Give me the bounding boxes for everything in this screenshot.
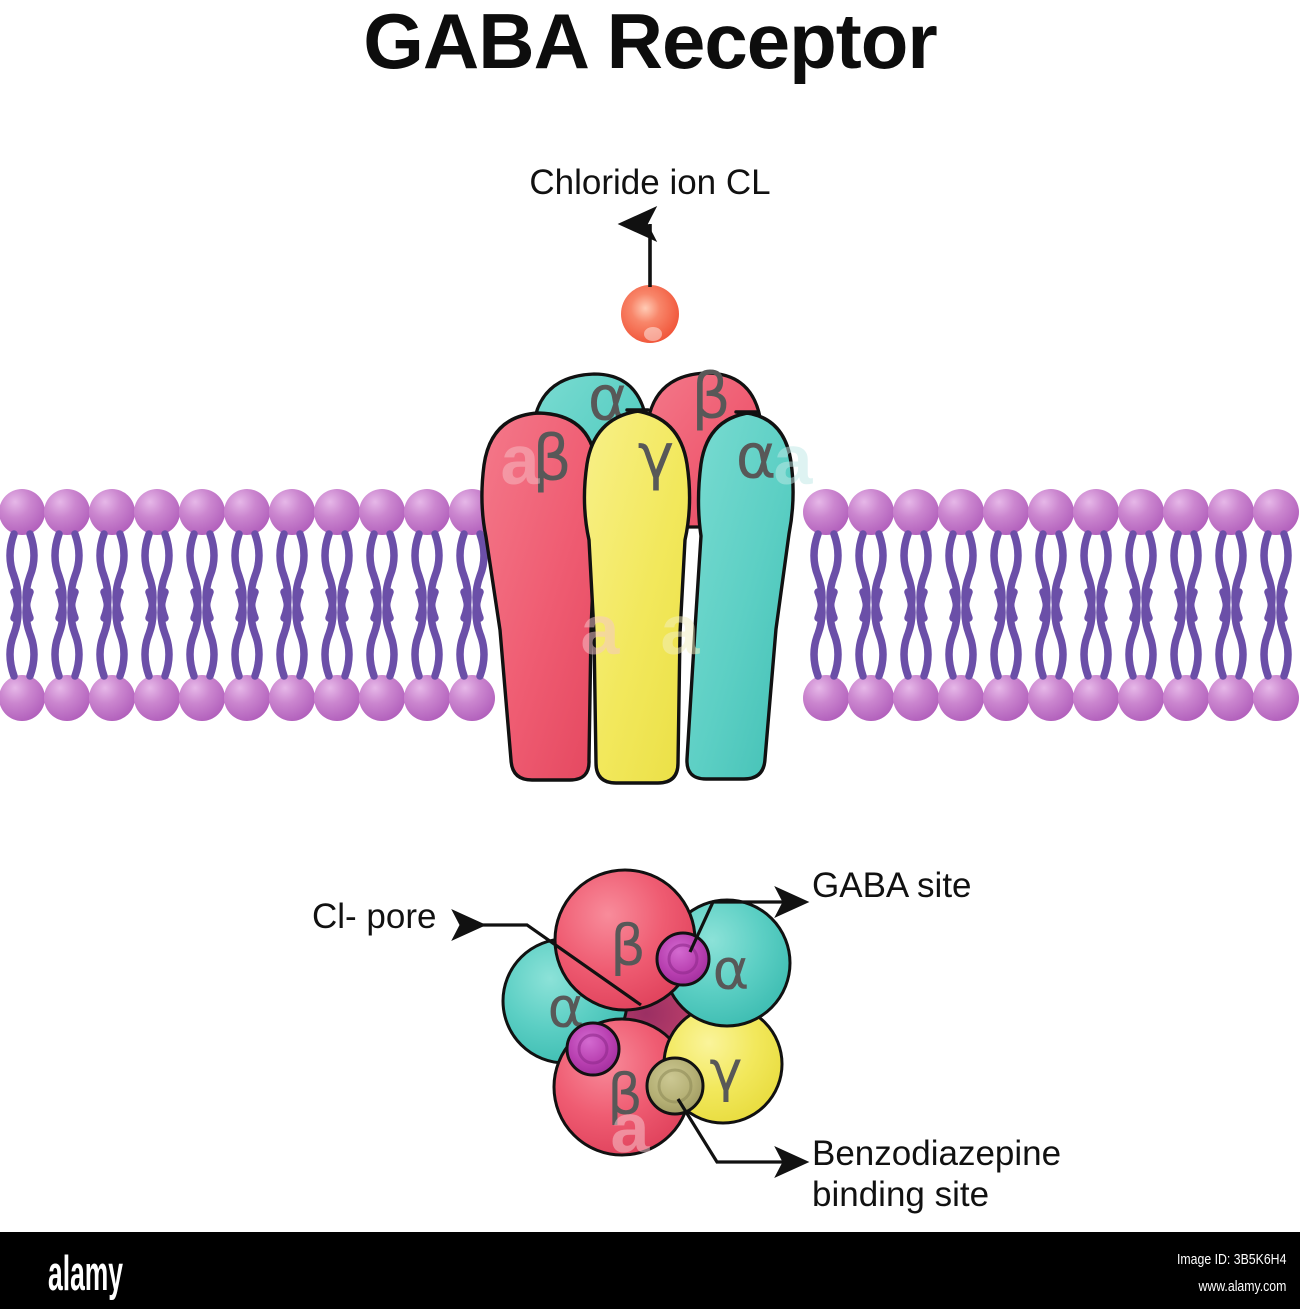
gaba-site-label: GABA site — [812, 866, 972, 906]
receptor-side-view: α β β α γ — [482, 224, 793, 783]
watermark-glyph: a — [774, 421, 814, 499]
gaba-site-lower — [567, 1023, 619, 1075]
watermark-glyph: a — [661, 591, 701, 669]
watermark-glyph: a — [581, 591, 621, 669]
lipid-bilayer-right — [803, 489, 1299, 721]
benzodiazepine-label-line1: Benzodiazepine — [812, 1134, 1061, 1173]
chloride-ion — [621, 285, 679, 343]
watermark-glyph: a — [611, 1089, 651, 1167]
benzodiazepine-label: Benzodiazepinebinding site — [812, 1133, 1061, 1215]
svg-text:α: α — [713, 938, 750, 1003]
subunit-label-front-alpha: α — [736, 420, 777, 493]
cl-pore-label: Cl- pore — [312, 897, 436, 937]
diagram-canvas: GABA Receptor — [0, 0, 1300, 1309]
website-text: www.alamy.com — [1177, 1273, 1286, 1300]
gaba-site-upper — [657, 933, 709, 985]
chloride-ion-label: Chloride ion CL — [0, 163, 1300, 203]
subunit-label-front-gamma: γ — [638, 420, 675, 493]
receptor-top-view: α β γ α β — [480, 870, 803, 1167]
svg-text:γ: γ — [709, 1040, 742, 1105]
alamy-logo: alamy — [48, 1246, 123, 1302]
lipid-bilayer-left — [0, 489, 495, 721]
benzodiazepine-site — [647, 1058, 703, 1114]
footer-meta: Image ID: 3B5K6H4 www.alamy.com — [1177, 1246, 1286, 1300]
benzodiazepine-label-line2: binding site — [812, 1175, 989, 1214]
stock-footer-bar: alamy Image ID: 3B5K6H4 www.alamy.com — [0, 1232, 1300, 1309]
watermark-glyph: a — [501, 421, 541, 499]
image-id-text: Image ID: 3B5K6H4 — [1177, 1246, 1286, 1273]
svg-text:β: β — [610, 914, 646, 979]
